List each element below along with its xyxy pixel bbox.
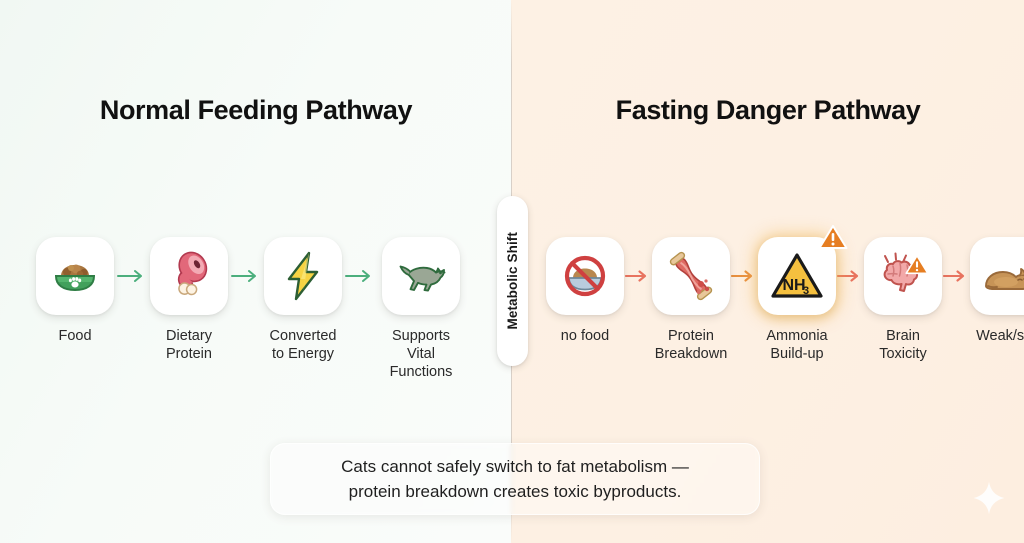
- footnote-callout: Cats cannot safely switch to fat metabol…: [270, 443, 760, 515]
- flow-arrow-icon: [730, 237, 758, 315]
- ammonia-nh3-hazard-icon: NH 3: [769, 250, 825, 302]
- metabolic-shift-text: Metabolic Shift: [505, 232, 520, 330]
- left-panel-title: Normal Feeding Pathway: [0, 95, 512, 126]
- warning-badge-icon: [818, 224, 848, 250]
- lightning-bolt-icon: [276, 249, 330, 303]
- step-supports-vital-functions: Supports Vital Functions: [378, 237, 464, 381]
- no-food-prohibited-icon: [557, 248, 613, 304]
- step-label: Supports Vital Functions: [378, 327, 464, 381]
- metabolic-shift-divider-label: Metabolic Shift: [497, 196, 528, 366]
- step-label: Converted to Energy: [270, 327, 337, 363]
- no-food-tile: [546, 237, 624, 315]
- meat-cut-icon: [160, 247, 218, 305]
- meat-cut-tile: [150, 237, 228, 315]
- ammonia-subscript: 3: [803, 285, 809, 297]
- step-food: Food: [36, 237, 114, 345]
- fasting-danger-flow: no food Protein Breakdown: [546, 237, 1024, 363]
- flow-arrow-icon: [342, 237, 378, 315]
- step-converted-to-energy: Converted to Energy: [264, 237, 342, 363]
- step-ammonia-build-up: NH 3 Ammonia Build-up: [758, 237, 836, 363]
- flow-arrow-icon: [624, 237, 652, 315]
- step-brain-toxicity: Brain Toxicity: [864, 237, 942, 363]
- normal-feeding-flow: Food Dietary Protein: [36, 237, 464, 381]
- step-protein-breakdown: Protein Breakdown: [652, 237, 730, 363]
- sick-cat-tile: [970, 237, 1024, 315]
- cat-food-bowl-icon: [47, 248, 103, 304]
- ammonia-tile: NH 3: [758, 237, 836, 315]
- brain-toxicity-icon: [875, 250, 931, 302]
- step-no-food: no food: [546, 237, 624, 345]
- sick-sleeping-cat-icon: [980, 252, 1024, 300]
- brain-toxicity-tile: [864, 237, 942, 315]
- flow-arrow-icon: [114, 237, 150, 315]
- muscle-breakdown-tile: [652, 237, 730, 315]
- flow-arrow-icon: [228, 237, 264, 315]
- running-cat-tile: [382, 237, 460, 315]
- step-label: Brain Toxicity: [879, 327, 927, 363]
- cat-food-bowl-tile: [36, 237, 114, 315]
- step-weak-sick: Weak/sick: [970, 237, 1024, 345]
- step-label: Protein Breakdown: [655, 327, 728, 363]
- running-cat-icon: [392, 248, 450, 304]
- step-label: Weak/sick: [976, 327, 1024, 345]
- step-label: Dietary Protein: [166, 327, 212, 363]
- lightning-bolt-tile: [264, 237, 342, 315]
- right-panel-title: Fasting Danger Pathway: [512, 95, 1024, 126]
- step-label: no food: [561, 327, 609, 345]
- step-label: Food: [58, 327, 91, 345]
- step-dietary-protein: Dietary Protein: [150, 237, 228, 363]
- step-label: Ammonia Build-up: [766, 327, 827, 363]
- sparkle-icon: [972, 481, 1006, 515]
- muscle-breakdown-icon: [663, 248, 719, 304]
- flow-arrow-icon: [942, 237, 970, 315]
- footnote-text: Cats cannot safely switch to fat metabol…: [341, 454, 689, 504]
